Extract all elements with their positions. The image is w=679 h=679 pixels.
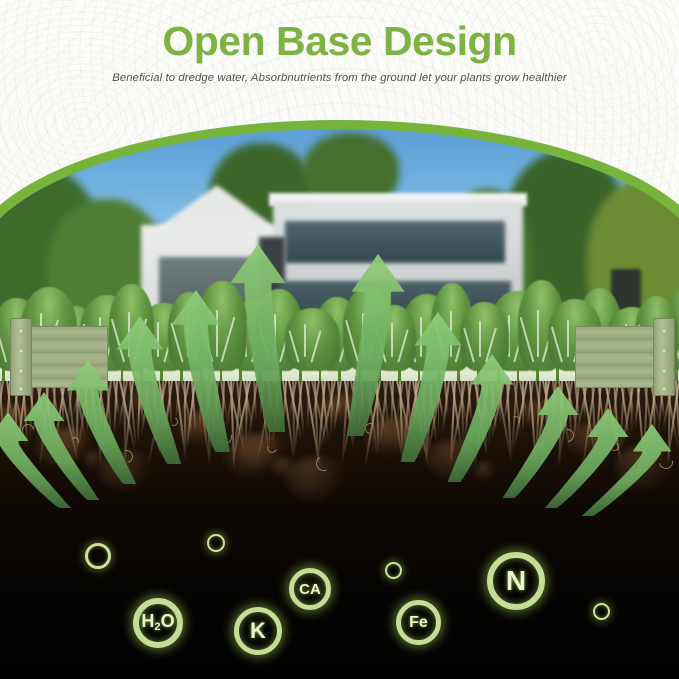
leaf-vein	[216, 310, 218, 357]
nutrient-bubble-nitrogen: N	[487, 552, 545, 610]
bubble-label: N	[506, 567, 526, 595]
leaf-vein	[157, 322, 159, 357]
nutrient-ring-empty	[385, 562, 402, 579]
screw-icon	[19, 329, 23, 333]
right-panel-corner-post	[653, 318, 675, 396]
leaf-vein	[391, 323, 393, 357]
root-strand	[475, 381, 478, 418]
header: Open Base Design Beneficial to dredge wa…	[0, 0, 679, 120]
root-strand	[147, 381, 166, 464]
nutrient-bubble-iron: Fe	[396, 600, 441, 645]
root-curl	[413, 435, 421, 443]
bubble-label-subscript: 2	[154, 621, 160, 633]
right-panel-corrugation	[575, 326, 661, 388]
plant-leaf-clump	[109, 284, 154, 371]
left-panel-corner-post	[10, 318, 32, 396]
screw-icon	[662, 349, 666, 353]
page-title: Open Base Design	[0, 20, 679, 63]
leaf-vein	[128, 312, 130, 357]
nutrient-ring-empty	[207, 534, 225, 552]
bubble-label: H2O	[141, 612, 174, 633]
nutrient-bubble-water: H2O	[133, 598, 183, 648]
leaf-vein	[479, 321, 481, 357]
house-upper-windows	[285, 221, 505, 263]
bubble-label: CA	[299, 582, 321, 597]
root-curl	[656, 452, 675, 471]
left-panel-corrugation	[22, 326, 108, 388]
infographic-stage: Open Base Design Beneficial to dredge wa…	[0, 0, 679, 679]
bubble-label: Fe	[409, 615, 428, 631]
leaf-vein	[537, 310, 539, 357]
screw-icon	[19, 387, 23, 391]
screw-icon	[662, 387, 666, 391]
screw-icon	[662, 369, 666, 373]
leaf-vein	[567, 320, 569, 357]
screw-icon	[19, 349, 23, 353]
nutrient-bubble-potassium: K	[234, 607, 282, 655]
root-system	[0, 381, 679, 473]
leaf-vein	[274, 314, 276, 357]
leaf-vein	[450, 311, 452, 357]
leaf-vein	[362, 313, 364, 357]
screw-icon	[662, 329, 666, 333]
screw-icon	[19, 369, 23, 373]
bubble-label: K	[250, 620, 266, 642]
leaf-vein	[420, 317, 422, 357]
nutrient-ring-empty	[593, 603, 610, 620]
arched-scene	[0, 120, 679, 679]
leaf-vein	[304, 324, 306, 357]
nutrient-bubble-calcium: CA	[289, 568, 331, 610]
leaf-vein	[187, 316, 189, 357]
left-planter-panel	[0, 326, 108, 392]
nutrient-ring-empty	[85, 543, 111, 569]
page-subtitle: Beneficial to dredge water, Absorbnutrie…	[0, 72, 679, 84]
scene-photo	[0, 129, 679, 679]
right-planter-panel	[575, 326, 679, 392]
